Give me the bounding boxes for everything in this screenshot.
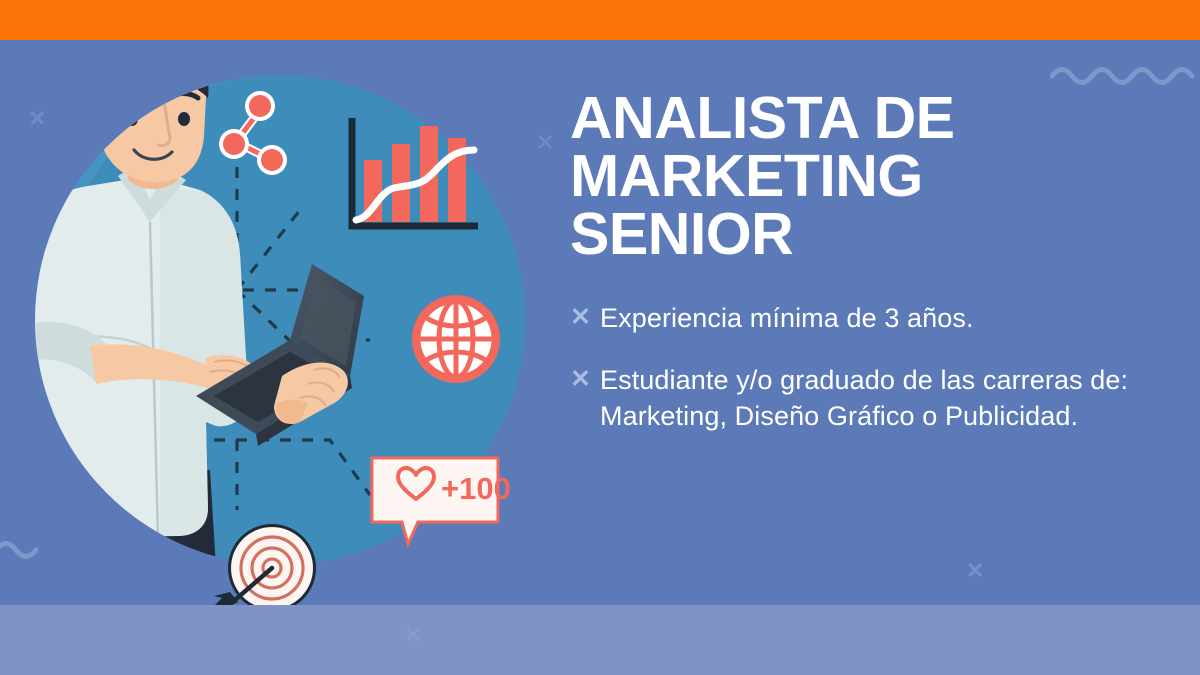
right-eye xyxy=(178,112,190,126)
likes-count: +100 xyxy=(441,471,511,506)
decor-x-icon-4: ✕ xyxy=(404,624,422,646)
list-item: ✕ Estudiante y/o graduado de las carrera… xyxy=(570,363,1160,434)
left-eye xyxy=(126,112,138,126)
head xyxy=(96,42,206,182)
requirements-list: ✕ Experiencia mínima de 3 años. ✕ Estudi… xyxy=(570,301,1160,434)
poster-canvas: ✕ ✕ ✕ ✕ xyxy=(0,0,1200,675)
arrow-fletching xyxy=(214,592,238,605)
ear xyxy=(80,115,99,145)
left-eyebrow xyxy=(122,94,154,100)
orange-accent-bar xyxy=(0,0,1200,40)
bullet-x-icon: ✕ xyxy=(570,363,600,396)
bottom-accent-band xyxy=(0,605,1200,675)
page-title: ANALISTA DE MARKETING SENIOR xyxy=(570,90,1160,263)
decor-x-icon-3: ✕ xyxy=(966,560,984,582)
requirement-text: Estudiante y/o graduado de las carreras … xyxy=(600,363,1160,434)
marketing-analyst-illustration: +100 xyxy=(0,40,560,605)
globe-icon xyxy=(412,295,500,383)
wave-top-right-icon xyxy=(1050,60,1200,86)
requirement-text: Experiencia mínima de 3 años. xyxy=(600,301,974,337)
bullet-x-icon: ✕ xyxy=(570,301,600,334)
job-posting-content: ANALISTA DE MARKETING SENIOR ✕ Experienc… xyxy=(570,90,1160,460)
list-item: ✕ Experiencia mínima de 3 años. xyxy=(570,301,1160,337)
